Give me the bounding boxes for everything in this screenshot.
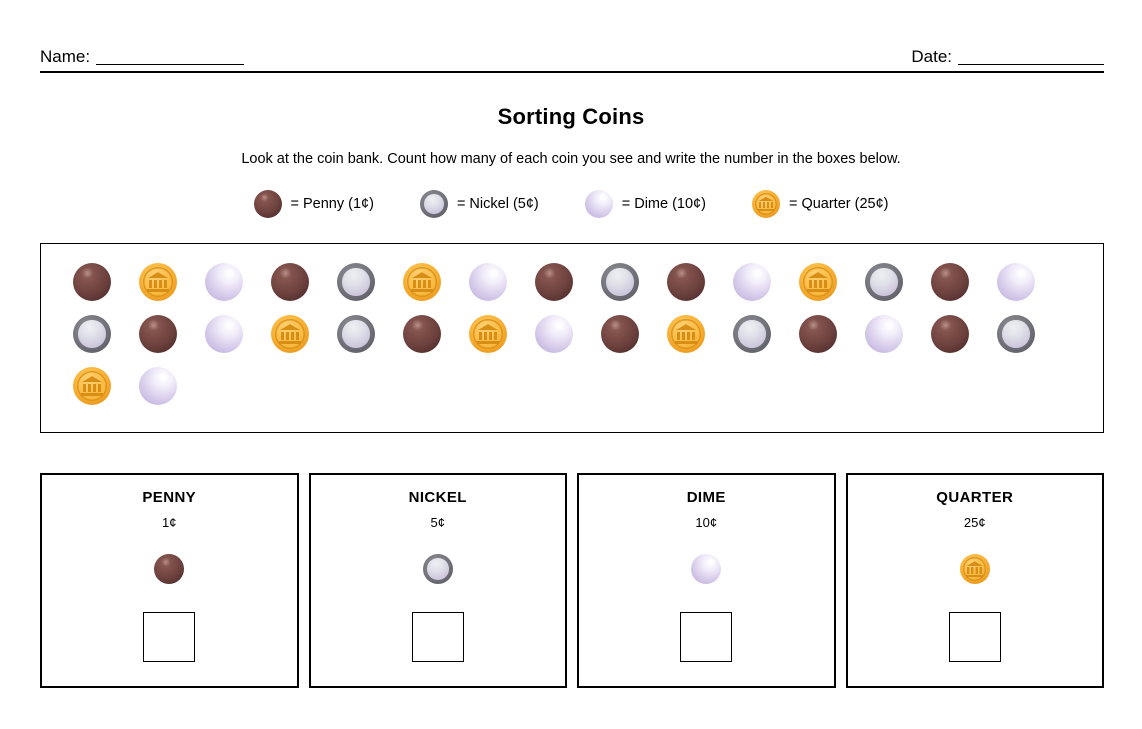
penny-coin-icon bbox=[254, 190, 282, 218]
coin-legend: = Penny (1¢) = Nickel (5¢) = Dime (10¢) … bbox=[0, 190, 1142, 218]
penny-coin-icon bbox=[403, 315, 441, 353]
bank-building-icon bbox=[81, 376, 102, 396]
coin-bank-row bbox=[59, 360, 1085, 412]
penny-coin-icon bbox=[535, 263, 573, 301]
coin-bank-cell-penny bbox=[917, 256, 983, 308]
header: Name: Date: bbox=[40, 34, 1104, 68]
coin-bank-cell-quarter bbox=[125, 256, 191, 308]
coin-bank-cell-quarter bbox=[653, 308, 719, 360]
panel-title: NICKEL bbox=[409, 489, 467, 506]
coin-bank-cell-penny bbox=[587, 308, 653, 360]
nickel-coin-icon bbox=[420, 190, 448, 218]
coin-bank-row bbox=[59, 308, 1085, 360]
legend-item-quarter: = Quarter (25¢) bbox=[752, 190, 889, 218]
answer-box-quarter[interactable] bbox=[949, 612, 1001, 662]
bank-building-icon bbox=[477, 324, 498, 344]
coin-bank-cell-quarter bbox=[257, 308, 323, 360]
quarter-coin-icon bbox=[469, 315, 507, 353]
coin-bank-cell-dime bbox=[719, 256, 785, 308]
quarter-coin-icon bbox=[271, 315, 309, 353]
coin-bank-cell-quarter bbox=[785, 256, 851, 308]
penny-coin-icon bbox=[799, 315, 837, 353]
panel-coin-sample bbox=[960, 552, 990, 586]
coin-bank-cell-penny bbox=[257, 256, 323, 308]
dime-coin-icon bbox=[139, 367, 177, 405]
penny-coin-icon bbox=[931, 315, 969, 353]
nickel-coin-icon bbox=[601, 263, 639, 301]
coin-bank-cell-dime bbox=[521, 308, 587, 360]
coin-bank-cell-nickel bbox=[587, 256, 653, 308]
penny-coin-icon bbox=[667, 263, 705, 301]
dime-coin-icon bbox=[997, 263, 1035, 301]
quarter-coin-icon bbox=[667, 315, 705, 353]
legend-item-dime: = Dime (10¢) bbox=[585, 190, 706, 218]
coin-bank-cell-nickel bbox=[851, 256, 917, 308]
nickel-coin-icon bbox=[337, 315, 375, 353]
bank-building-icon bbox=[966, 561, 983, 577]
coin-bank-cell-penny bbox=[59, 256, 125, 308]
coin-bank-cell-dime bbox=[125, 360, 191, 412]
coin-bank-cell-penny bbox=[917, 308, 983, 360]
bank-building-icon bbox=[147, 272, 168, 292]
instructions-text: Look at the coin bank. Count how many of… bbox=[0, 151, 1142, 167]
name-label: Name: bbox=[40, 47, 90, 68]
panel-title: DIME bbox=[687, 489, 726, 506]
answer-panel-quarter: QUARTER25¢ bbox=[846, 473, 1105, 688]
dime-coin-icon bbox=[585, 190, 613, 218]
nickel-coin-icon bbox=[733, 315, 771, 353]
page-title: Sorting Coins bbox=[0, 104, 1142, 130]
answer-panels: PENNY1¢NICKEL5¢DIME10¢QUARTER25¢ bbox=[40, 473, 1104, 688]
quarter-coin-icon bbox=[799, 263, 837, 301]
coin-bank-cell-nickel bbox=[323, 256, 389, 308]
penny-coin-icon bbox=[271, 263, 309, 301]
bank-building-icon bbox=[675, 324, 696, 344]
panel-coin-sample bbox=[691, 552, 721, 586]
coin-bank-cell-quarter bbox=[59, 360, 125, 412]
coin-bank-cell-nickel bbox=[983, 308, 1049, 360]
name-field-group: Name: bbox=[40, 47, 244, 68]
header-divider bbox=[40, 71, 1104, 73]
nickel-coin-icon bbox=[865, 263, 903, 301]
dime-coin-icon bbox=[535, 315, 573, 353]
coin-bank-cell-dime bbox=[455, 256, 521, 308]
coin-bank-cell-dime bbox=[983, 256, 1049, 308]
bank-building-icon bbox=[411, 272, 432, 292]
legend-label-dime: = Dime (10¢) bbox=[622, 196, 706, 212]
coin-bank-cell-dime bbox=[851, 308, 917, 360]
coin-bank-cell-penny bbox=[125, 308, 191, 360]
answer-box-penny[interactable] bbox=[143, 612, 195, 662]
answer-panel-dime: DIME10¢ bbox=[577, 473, 836, 688]
dime-coin-icon bbox=[865, 315, 903, 353]
dime-coin-icon bbox=[691, 554, 721, 584]
panel-coin-sample bbox=[423, 552, 453, 586]
nickel-coin-icon bbox=[337, 263, 375, 301]
legend-label-quarter: = Quarter (25¢) bbox=[789, 196, 889, 212]
penny-coin-icon bbox=[601, 315, 639, 353]
dime-coin-icon bbox=[733, 263, 771, 301]
panel-value: 5¢ bbox=[431, 515, 445, 530]
coin-bank-cell-quarter bbox=[455, 308, 521, 360]
coin-bank-cell-penny bbox=[653, 256, 719, 308]
answer-panel-nickel: NICKEL5¢ bbox=[309, 473, 568, 688]
date-label: Date: bbox=[911, 47, 952, 68]
coin-bank-cell-nickel bbox=[59, 308, 125, 360]
answer-box-nickel[interactable] bbox=[412, 612, 464, 662]
panel-value: 25¢ bbox=[964, 515, 986, 530]
coin-bank-cell-nickel bbox=[719, 308, 785, 360]
coin-bank-cell-dime bbox=[191, 308, 257, 360]
dime-coin-icon bbox=[205, 263, 243, 301]
legend-item-nickel: = Nickel (5¢) bbox=[420, 190, 539, 218]
date-write-line[interactable] bbox=[958, 64, 1104, 65]
quarter-coin-icon bbox=[73, 367, 111, 405]
coin-bank-cell-quarter bbox=[389, 256, 455, 308]
coin-bank-cell-dime bbox=[191, 256, 257, 308]
panel-coin-sample bbox=[154, 552, 184, 586]
date-field-group: Date: bbox=[911, 47, 1104, 68]
panel-title: PENNY bbox=[142, 489, 196, 506]
bank-building-icon bbox=[279, 324, 300, 344]
legend-label-penny: = Penny (1¢) bbox=[291, 196, 374, 212]
coin-bank-cell-nickel bbox=[323, 308, 389, 360]
legend-label-nickel: = Nickel (5¢) bbox=[457, 196, 539, 212]
dime-coin-icon bbox=[469, 263, 507, 301]
name-write-line[interactable] bbox=[96, 64, 244, 65]
penny-coin-icon bbox=[154, 554, 184, 584]
dime-coin-icon bbox=[205, 315, 243, 353]
coin-bank-cell-penny bbox=[521, 256, 587, 308]
panel-value: 1¢ bbox=[162, 515, 176, 530]
bank-building-icon bbox=[807, 272, 828, 292]
penny-coin-icon bbox=[931, 263, 969, 301]
penny-coin-icon bbox=[139, 315, 177, 353]
quarter-coin-icon bbox=[752, 190, 780, 218]
nickel-coin-icon bbox=[423, 554, 453, 584]
nickel-coin-icon bbox=[997, 315, 1035, 353]
worksheet-page: Name: Date: Sorting Coins Look at the co… bbox=[0, 0, 1142, 729]
coin-bank-row bbox=[59, 256, 1085, 308]
coin-bank-cell-penny bbox=[389, 308, 455, 360]
quarter-coin-icon bbox=[403, 263, 441, 301]
penny-coin-icon bbox=[73, 263, 111, 301]
quarter-coin-icon bbox=[960, 554, 990, 584]
nickel-coin-icon bbox=[73, 315, 111, 353]
legend-item-penny: = Penny (1¢) bbox=[254, 190, 374, 218]
panel-value: 10¢ bbox=[695, 515, 717, 530]
bank-building-icon bbox=[758, 197, 774, 212]
answer-panel-penny: PENNY1¢ bbox=[40, 473, 299, 688]
coin-bank-cell-penny bbox=[785, 308, 851, 360]
coin-bank-box bbox=[40, 243, 1104, 433]
quarter-coin-icon bbox=[139, 263, 177, 301]
panel-title: QUARTER bbox=[936, 489, 1013, 506]
answer-box-dime[interactable] bbox=[680, 612, 732, 662]
